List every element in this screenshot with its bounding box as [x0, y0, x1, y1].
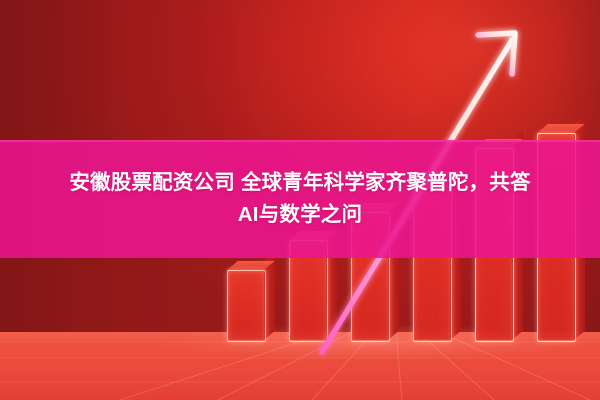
banner-image: 安徽股票配资公司 全球青年科学家齐聚普陀，共答 AI与数学之问 [0, 0, 600, 400]
headline-block: 安徽股票配资公司 全球青年科学家齐聚普陀，共答 AI与数学之问 [0, 140, 600, 258]
headline-line-2: AI与数学之问 [238, 200, 362, 230]
headline-line-1: 安徽股票配资公司 全球青年科学家齐聚普陀，共答 [63, 168, 536, 198]
